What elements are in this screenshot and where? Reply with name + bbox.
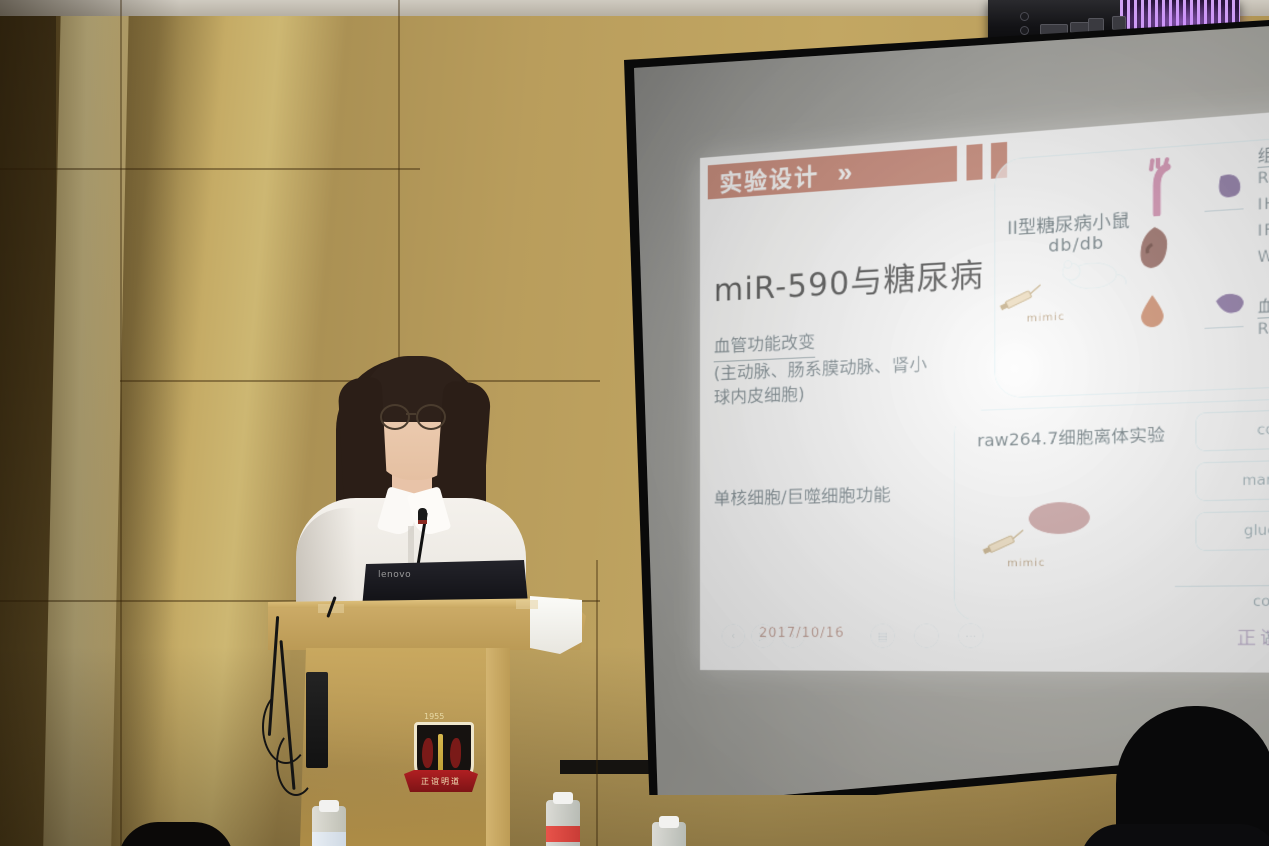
crest-ribbon: 正谊明道 [404,770,478,792]
crest-wing [422,738,433,768]
tape-strip [516,600,538,609]
microphone-ring [418,520,427,524]
podium-column [486,648,510,846]
glasses-icon [380,404,458,426]
crest-year: 1955 [424,712,444,721]
crest-motto: 正谊明道 [421,776,461,787]
glasses-lens [416,404,446,430]
crest-wing [450,738,461,768]
glasses-bridge [406,413,416,415]
projector-jack-icon [1020,12,1029,21]
bottle-label [312,832,346,846]
laptop-brand-label: lenovo [378,570,411,580]
glasses-lens [380,404,410,430]
bottle-cap [659,816,679,828]
screen-vignette [598,20,1269,795]
university-crest: 1955 正谊明道 [404,712,478,804]
bottle-cap [319,800,339,812]
audience-shoulders [1080,824,1269,846]
bottle-cap [553,792,573,804]
cable-loop [276,730,316,796]
projector-port [1112,16,1126,30]
lecture-hall-photo: 实验设计 » miR-590与糖尿病 血管功能改变 (主动脉、肠系膜动脉、肾小 … [0,0,1269,846]
projector-jack-icon [1020,26,1029,35]
bottle-label [546,826,580,842]
